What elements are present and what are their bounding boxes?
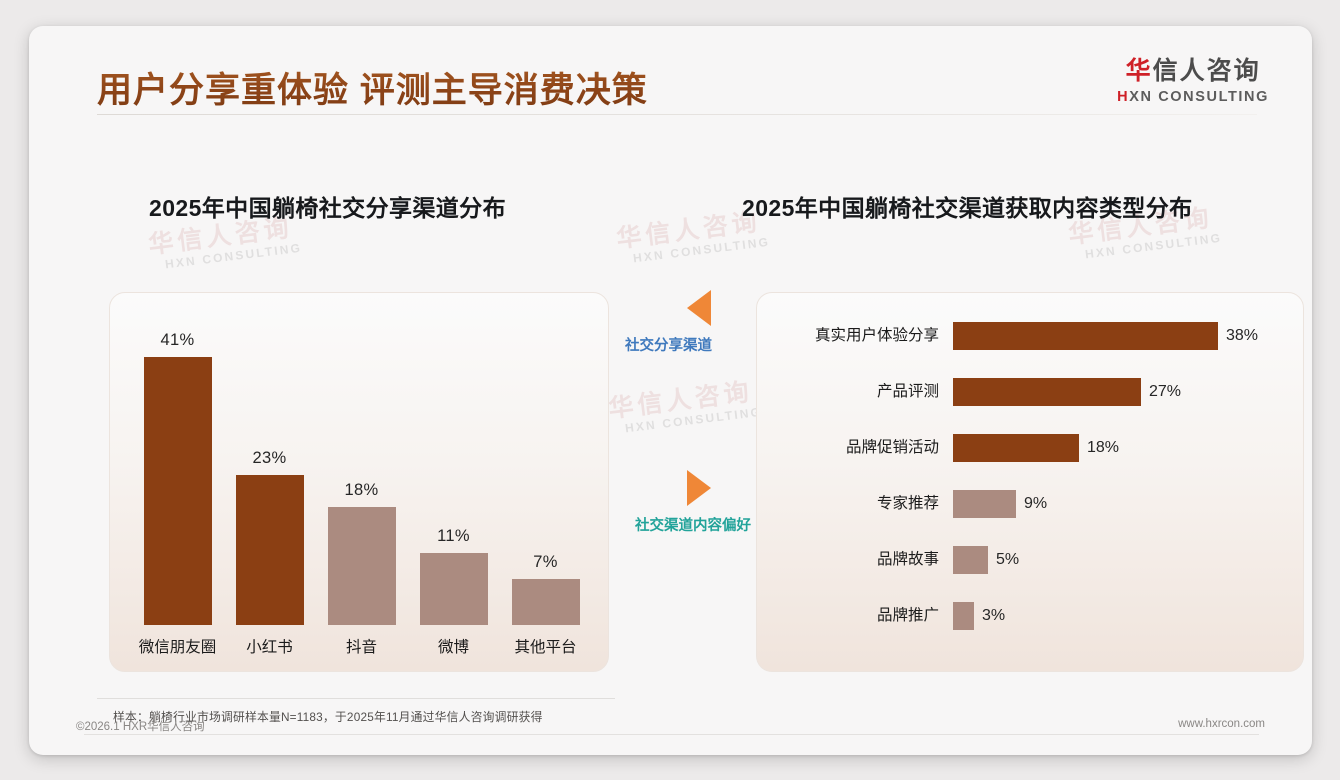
bar-row: 产品评测27% xyxy=(757,375,1303,409)
column-bar[interactable] xyxy=(512,579,580,625)
bar-rect[interactable] xyxy=(953,434,1079,462)
connector-content: 社交渠道内容偏好 xyxy=(625,470,765,590)
bar-category-label: 产品评测 xyxy=(779,375,939,409)
brand-logo-cn-red: 华 xyxy=(1126,57,1153,85)
column-bar[interactable] xyxy=(144,357,212,625)
brand-logo-en-h: H xyxy=(1117,89,1129,105)
footer-copyright: ©2026.1 HXR华信人咨询 xyxy=(76,718,205,734)
bar-category-label: 品牌推广 xyxy=(779,599,939,633)
column-value-label: 23% xyxy=(224,449,315,468)
bar-rect[interactable] xyxy=(953,602,974,630)
bar-row: 专家推荐9% xyxy=(757,487,1303,521)
bar-category-label: 真实用户体验分享 xyxy=(779,319,939,353)
bar-row: 品牌推广3% xyxy=(757,599,1303,633)
column-group: 18% xyxy=(316,481,407,625)
connector-label-content: 社交渠道内容偏好 xyxy=(635,514,751,535)
bar-value-label: 5% xyxy=(996,543,1019,577)
bar-value-label: 3% xyxy=(982,599,1005,633)
title-divider xyxy=(97,114,1257,115)
page-title: 用户分享重体验 评测主导消费决策 xyxy=(97,62,648,113)
connector-label-share: 社交分享渠道 xyxy=(625,334,712,355)
bar-category-label: 专家推荐 xyxy=(779,487,939,521)
bar-row: 品牌故事5% xyxy=(757,543,1303,577)
column-group: 7% xyxy=(500,553,591,625)
connector-share: 社交分享渠道 xyxy=(625,290,765,410)
column-group: 23% xyxy=(224,449,315,625)
bar-rect[interactable] xyxy=(953,378,1141,406)
brand-logo-cn: 华信人咨询 xyxy=(1117,58,1269,86)
chart-card-right: 真实用户体验分享38%产品评测27%品牌促销活动18%专家推荐9%品牌故事5%品… xyxy=(756,292,1304,672)
bar-category-label: 品牌故事 xyxy=(779,543,939,577)
brand-logo-en-rest: XN CONSULTING xyxy=(1129,89,1269,105)
slide-header: 用户分享重体验 评测主导消费决策 华信人咨询 HXN CONSULTING xyxy=(29,26,1312,122)
column-value-label: 7% xyxy=(500,553,591,572)
column-bar[interactable] xyxy=(328,507,396,625)
bar-rect[interactable] xyxy=(953,322,1218,350)
brand-logo: 华信人咨询 HXN CONSULTING xyxy=(1117,58,1269,105)
triangle-left-icon xyxy=(687,290,711,326)
bar-value-label: 9% xyxy=(1024,487,1047,521)
bar-row: 品牌促销活动18% xyxy=(757,431,1303,465)
footnote-divider xyxy=(97,698,615,699)
chart-title-right: 2025年中国躺椅社交渠道获取内容类型分布 xyxy=(742,189,1193,223)
bar-category-label: 品牌促销活动 xyxy=(779,431,939,465)
column-chart: 41%微信朋友圈23%小红书18%抖音11%微博7%其他平台 xyxy=(110,293,608,671)
column-group: 41% xyxy=(132,331,223,625)
chart-title-left: 2025年中国躺椅社交分享渠道分布 xyxy=(149,189,506,223)
bar-value-label: 27% xyxy=(1149,375,1181,409)
column-value-label: 18% xyxy=(316,481,407,500)
bar-rect[interactable] xyxy=(953,490,1016,518)
column-value-label: 11% xyxy=(408,527,499,546)
bar-value-label: 18% xyxy=(1087,431,1119,465)
brand-logo-en: HXN CONSULTING xyxy=(1117,89,1269,105)
column-bar[interactable] xyxy=(420,553,488,625)
brand-logo-cn-rest: 信人咨询 xyxy=(1153,57,1261,85)
bar-rect[interactable] xyxy=(953,546,988,574)
chart-card-left: 41%微信朋友圈23%小红书18%抖音11%微博7%其他平台 xyxy=(109,292,609,672)
footer-divider xyxy=(84,734,1259,735)
triangle-right-icon xyxy=(687,470,711,506)
bar-value-label: 38% xyxy=(1226,319,1258,353)
slide-canvas: 华信人咨询 HXN CONSULTING 华信人咨询 HXN CONSULTIN… xyxy=(29,26,1312,755)
column-value-label: 41% xyxy=(132,331,223,350)
column-group: 11% xyxy=(408,527,499,625)
column-category-label: 其他平台 xyxy=(491,635,601,657)
bar-chart: 真实用户体验分享38%产品评测27%品牌促销活动18%专家推荐9%品牌故事5%品… xyxy=(757,293,1303,671)
slide-body: 2025年中国躺椅社交分享渠道分布 2025年中国躺椅社交渠道获取内容类型分布 … xyxy=(29,122,1312,682)
bar-row: 真实用户体验分享38% xyxy=(757,319,1303,353)
footer-website: www.hxrcon.com xyxy=(1178,718,1265,730)
column-bar[interactable] xyxy=(236,475,304,625)
